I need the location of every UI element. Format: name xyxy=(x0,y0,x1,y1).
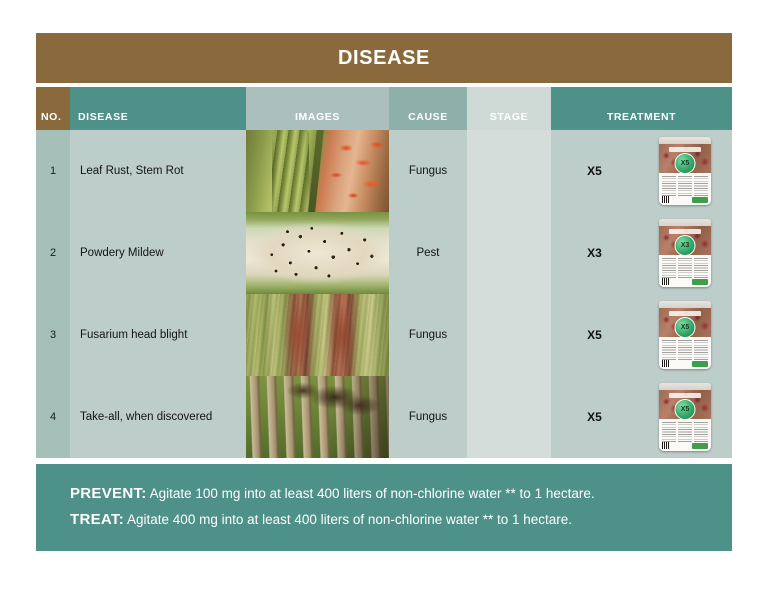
table-row: 3 Fusarium head blight Fungus X5 X5 xyxy=(36,294,732,376)
pouch-brand-bar xyxy=(669,393,701,398)
pouch-top-seal xyxy=(659,219,711,226)
pouch-top-seal xyxy=(659,383,711,390)
pouch-logo-icon: X3 xyxy=(675,235,696,256)
pouch-hero-photo: X5 xyxy=(659,390,711,419)
product-pouch-icon: X5 xyxy=(659,383,711,451)
pouch-label-column xyxy=(694,258,708,278)
pouch-label-column xyxy=(662,258,676,278)
prevent-label: PREVENT: xyxy=(70,485,147,502)
pouch-hero-photo: X5 xyxy=(659,308,711,337)
pouch-label-column xyxy=(678,422,692,442)
pouch-label-column xyxy=(662,422,676,442)
pouch-label-column xyxy=(662,176,676,196)
disease-photo-cell xyxy=(246,294,389,376)
prevent-instruction-line: PREVENT: Agitate 100 mg into at least 40… xyxy=(70,481,732,507)
cause-value: Fungus xyxy=(389,294,467,376)
disease-name: Fusarium head blight xyxy=(70,294,246,376)
column-header-no: NO. xyxy=(36,87,70,130)
powdery-mildew-photo xyxy=(246,212,389,294)
cause-value: Fungus xyxy=(389,376,467,458)
row-number: 4 xyxy=(36,376,70,458)
pouch-logo-icon: X5 xyxy=(675,399,696,420)
pouch-label-footer xyxy=(662,360,708,367)
stage-value xyxy=(467,130,551,212)
disease-name: Leaf Rust, Stem Rot xyxy=(70,130,246,212)
pouch-logo-icon: X5 xyxy=(675,153,696,174)
column-header-cause: CAUSE xyxy=(389,87,467,130)
qr-code-icon xyxy=(662,278,669,285)
stage-value xyxy=(467,212,551,294)
disease-treatment-sheet: DISEASE NO. DISEASE IMAGES xyxy=(36,33,732,551)
pouch-label-column xyxy=(662,340,676,360)
table-row: 4 Take-all, when discovered Fungus X5 X5 xyxy=(36,376,732,458)
pouch-hero-photo: X3 xyxy=(659,226,711,255)
pouch-label-text-columns xyxy=(662,176,708,196)
pouch-label xyxy=(659,337,711,369)
pouch-label xyxy=(659,419,711,451)
treat-label: TREAT: xyxy=(70,511,124,528)
qr-code-icon xyxy=(662,442,669,449)
pouch-top-seal xyxy=(659,137,711,144)
pouch-green-tag xyxy=(692,279,708,285)
pouch-green-tag xyxy=(692,361,708,367)
row-number: 3 xyxy=(36,294,70,376)
pouch-label-column xyxy=(694,422,708,442)
pouch-brand-bar xyxy=(669,147,701,152)
pouch-logo-icon: X5 xyxy=(675,317,696,338)
treat-instruction-line: TREAT: Agitate 400 mg into at least 400 … xyxy=(70,507,732,533)
disease-name: Take-all, when discovered xyxy=(70,376,246,458)
pouch-top-seal xyxy=(659,301,711,308)
pouch-hero-photo: X5 xyxy=(659,144,711,173)
disease-table: NO. DISEASE IMAGES CAUSE STAGE TREATMENT xyxy=(36,87,732,458)
table-header-row: NO. DISEASE IMAGES CAUSE STAGE TREATMENT xyxy=(36,87,732,130)
column-header-stage: STAGE xyxy=(467,87,551,130)
pouch-label-text-columns xyxy=(662,422,708,442)
pouch-green-tag xyxy=(692,443,708,449)
row-number: 1 xyxy=(36,130,70,212)
treatment-dose: X5 xyxy=(551,294,638,376)
disease-photo-cell xyxy=(246,376,389,458)
treatment-product-cell: X5 xyxy=(638,294,732,376)
product-pouch-icon: X3 xyxy=(659,219,711,287)
fusarium-head-blight-photo xyxy=(246,294,389,376)
qr-code-icon xyxy=(662,196,669,203)
pouch-label-text-columns xyxy=(662,258,708,278)
pouch-label-column xyxy=(678,258,692,278)
product-pouch-icon: X5 xyxy=(659,137,711,205)
treatment-dose: X3 xyxy=(551,212,638,294)
pouch-green-tag xyxy=(692,197,708,203)
stage-value xyxy=(467,294,551,376)
stage-value xyxy=(467,376,551,458)
pouch-label xyxy=(659,255,711,287)
sheet-title-bar: DISEASE xyxy=(36,33,732,83)
cause-value: Fungus xyxy=(389,130,467,212)
row-number: 2 xyxy=(36,212,70,294)
table-row: 1 Leaf Rust, Stem Rot Fungus X5 X5 xyxy=(36,130,732,212)
pouch-label-footer xyxy=(662,196,708,203)
page-title: DISEASE xyxy=(338,47,430,70)
column-header-images: IMAGES xyxy=(246,87,389,130)
treatment-dose: X5 xyxy=(551,376,638,458)
pouch-label-footer xyxy=(662,278,708,285)
column-header-treatment: TREATMENT xyxy=(551,87,732,130)
disease-photo-cell xyxy=(246,212,389,294)
treatment-product-cell: X5 xyxy=(638,376,732,458)
pouch-brand-bar xyxy=(669,229,701,234)
disease-name: Powdery Mildew xyxy=(70,212,246,294)
qr-code-icon xyxy=(662,360,669,367)
leaf-rust-photo xyxy=(246,130,389,212)
prevent-text: Agitate 100 mg into at least 400 liters … xyxy=(147,486,595,501)
treatment-dose: X5 xyxy=(551,130,638,212)
table-row: 2 Powdery Mildew Pest X3 X3 xyxy=(36,212,732,294)
disease-photo-cell xyxy=(246,130,389,212)
pouch-label xyxy=(659,173,711,205)
treatment-product-cell: X3 xyxy=(638,212,732,294)
treat-text: Agitate 400 mg into at least 400 liters … xyxy=(124,512,572,527)
column-header-disease: DISEASE xyxy=(70,87,246,130)
pouch-label-column xyxy=(678,176,692,196)
pouch-label-column xyxy=(678,340,692,360)
pouch-label-column xyxy=(694,176,708,196)
take-all-photo xyxy=(246,376,389,458)
treatment-product-cell: X5 xyxy=(638,130,732,212)
pouch-label-text-columns xyxy=(662,340,708,360)
product-pouch-icon: X5 xyxy=(659,301,711,369)
dosage-instructions-panel: PREVENT: Agitate 100 mg into at least 40… xyxy=(36,464,732,551)
pouch-label-footer xyxy=(662,442,708,449)
cause-value: Pest xyxy=(389,212,467,294)
pouch-label-column xyxy=(694,340,708,360)
pouch-brand-bar xyxy=(669,311,701,316)
